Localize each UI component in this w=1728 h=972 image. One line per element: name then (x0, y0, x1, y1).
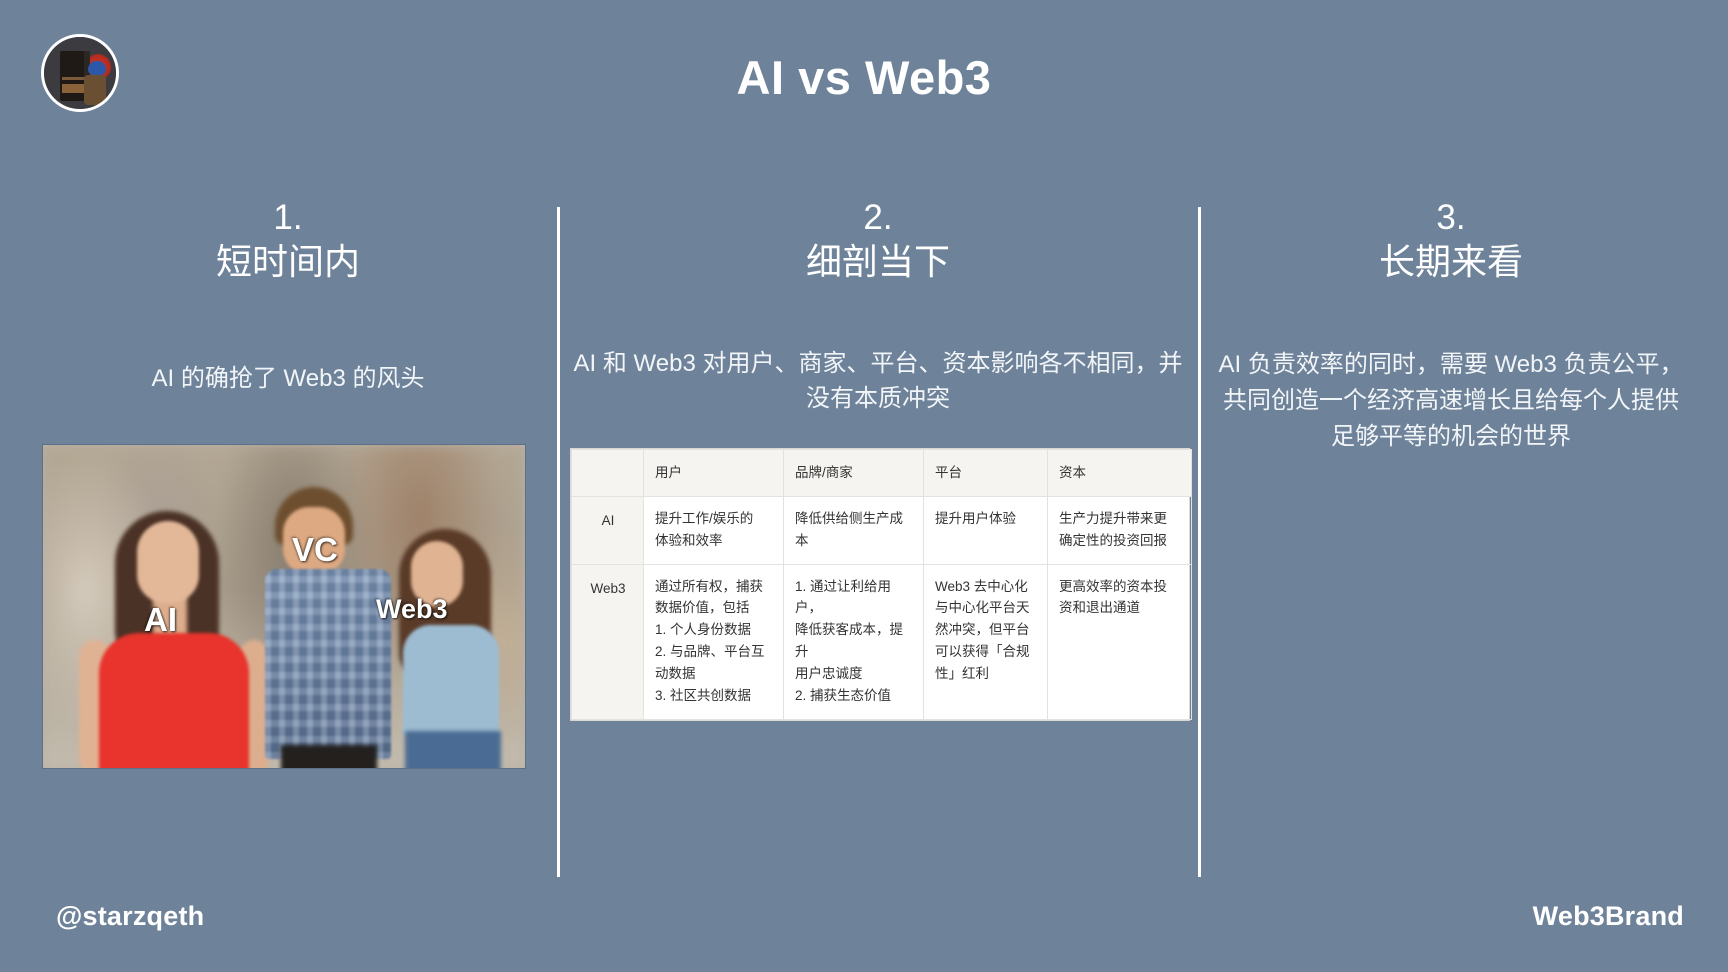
column-1-number: 1. (38, 200, 538, 237)
table-corner-cell (572, 450, 644, 497)
table-cell-web3-brands: 1. 通过让利给用户， 降低获客成本，提升 用户忠诚度 2. 捕获生态价值 (784, 564, 924, 719)
meme-man-pants (281, 745, 377, 769)
table-row-label-ai: AI (572, 496, 644, 564)
table-row-label-web3: Web3 (572, 564, 644, 719)
column-3-number: 3. (1212, 200, 1690, 237)
table-header-platform: 平台 (924, 450, 1048, 497)
meme-label-ai: AI (144, 601, 177, 639)
meme-left-woman-red-dress (99, 633, 249, 769)
table-cell-ai-capital: 生产力提升带来更 确定性的投资回报 (1048, 496, 1192, 564)
table-cell-ai-brands: 降低供给侧生产成本 (784, 496, 924, 564)
table-cell-web3-capital: 更高效率的资本投 资和退出通道 (1048, 564, 1192, 719)
meme-label-web3: Web3 (376, 594, 448, 625)
table-header-users: 用户 (644, 450, 784, 497)
column-2-heading: 细剖当下 (570, 239, 1186, 284)
table-header-capital: 资本 (1048, 450, 1192, 497)
table-cell-web3-users: 通过所有权，捕获 数据价值，包括 1. 个人身份数据 2. 与品牌、平台互 动数… (644, 564, 784, 719)
column-1-subtitle: AI 的确抢了 Web3 的风头 (38, 362, 538, 397)
column-present-analysis: 2. 细剖当下 AI 和 Web3 对用户、商家、平台、资本影响各不相同，并没有… (570, 200, 1186, 416)
distracted-boyfriend-meme-image (42, 444, 526, 769)
column-short-term: 1. 短时间内 AI 的确抢了 Web3 的风头 (38, 200, 538, 397)
meme-right-woman-jeans (405, 731, 501, 769)
table-cell-ai-platform: 提升用户体验 (924, 496, 1048, 564)
table-row: Web3 通过所有权，捕获 数据价值，包括 1. 个人身份数据 2. 与品牌、平… (572, 564, 1192, 719)
table-cell-ai-users: 提升工作/娱乐的 体验和效率 (644, 496, 784, 564)
meme-man-plaid-shirt (265, 569, 391, 759)
table-cell-web3-platform: Web3 去中心化 与中心化平台天 然冲突，但平台 可以获得「合规 性」红利 (924, 564, 1048, 719)
meme-left-woman-face (137, 521, 199, 603)
column-divider-2 (1198, 207, 1201, 877)
meme-label-vc: VC (292, 531, 338, 569)
footer-author-handle: @starzqeth (56, 901, 204, 932)
column-3-heading: 长期来看 (1212, 239, 1690, 284)
column-divider-1 (557, 207, 560, 877)
column-2-number: 2. (570, 200, 1186, 237)
ai-web3-comparison-table: 用户 品牌/商家 平台 资本 AI 提升工作/娱乐的 体验和效率 降低供给侧生产… (570, 448, 1190, 721)
table-row: AI 提升工作/娱乐的 体验和效率 降低供给侧生产成本 提升用户体验 生产力提升… (572, 496, 1192, 564)
column-2-subtitle: AI 和 Web3 对用户、商家、平台、资本影响各不相同，并没有本质冲突 (570, 347, 1186, 417)
footer-brand-name: Web3Brand (1533, 901, 1684, 932)
meme-right-woman-top (403, 625, 499, 735)
page-title: AI vs Web3 (0, 50, 1728, 105)
table-header-row: 用户 品牌/商家 平台 资本 (572, 450, 1192, 497)
column-1-heading: 短时间内 (38, 239, 538, 284)
column-3-subtitle: AI 负责效率的同时，需要 Web3 负责公平，共同创造一个经济高速增长且给每个… (1212, 347, 1690, 455)
column-long-term: 3. 长期来看 AI 负责效率的同时，需要 Web3 负责公平，共同创造一个经济… (1212, 200, 1690, 455)
table-header-brands: 品牌/商家 (784, 450, 924, 497)
